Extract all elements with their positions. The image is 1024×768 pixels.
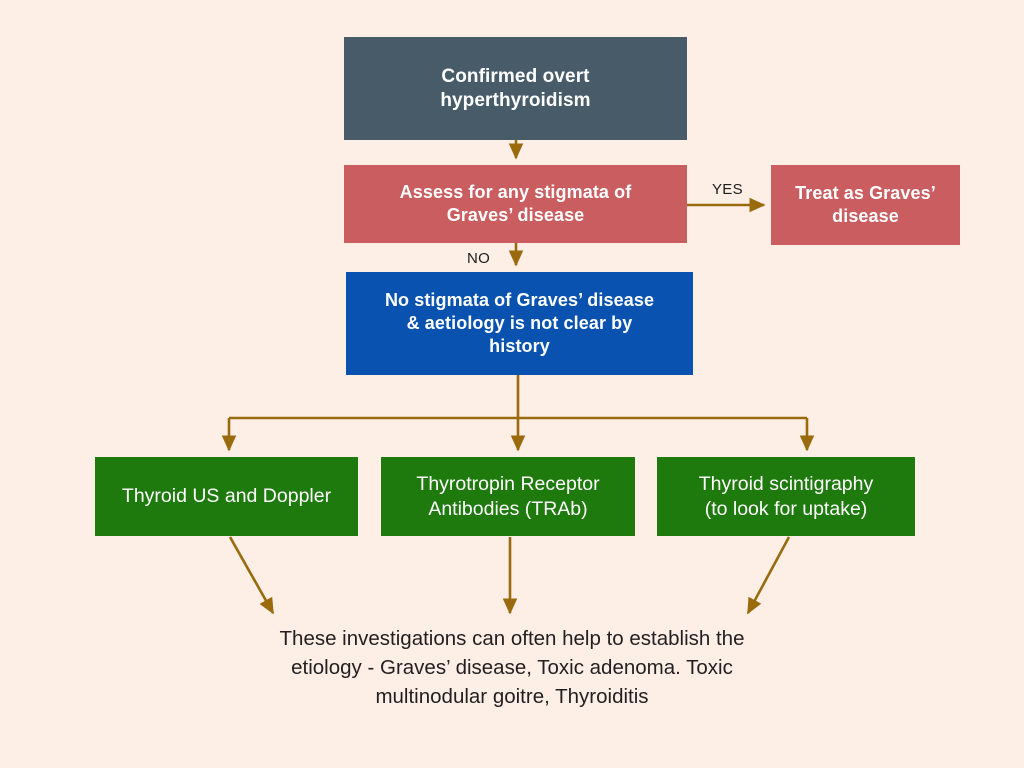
node-treat-as-graves-disease: Treat as Graves’ disease: [771, 165, 960, 245]
node-trab-label: Thyrotropin Receptor Antibodies (TRAb): [381, 472, 635, 521]
node-confirmed-overt-hyperthyroidism: Confirmed overt hyperthyroidism: [344, 37, 687, 140]
node-assess-label: Assess for any stigmata of Graves’ disea…: [344, 181, 687, 226]
node-nostigmata-label: No stigmata of Graves’ disease & aetiolo…: [346, 289, 693, 357]
node-thyrotropin-receptor-antibodies: Thyrotropin Receptor Antibodies (TRAb): [381, 457, 635, 536]
edge-label-yes: YES: [712, 181, 743, 198]
node-scintigraphy-label: Thyroid scintigraphy (to look for uptake…: [657, 472, 915, 521]
node-start-label: Confirmed overt hyperthyroidism: [344, 65, 687, 113]
flowchart-canvas: Confirmed overt hyperthyroidism Assess f…: [0, 0, 1024, 768]
node-thyroid-us-and-doppler: Thyroid US and Doppler: [95, 457, 358, 536]
node-thyroid-scintigraphy: Thyroid scintigraphy (to look for uptake…: [657, 457, 915, 536]
edge-label-no: NO: [467, 250, 490, 267]
edge-us-to-footnote: [230, 537, 273, 613]
node-graves-label: Treat as Graves’ disease: [771, 182, 960, 227]
node-assess-for-stigmata: Assess for any stigmata of Graves’ disea…: [344, 165, 687, 243]
node-us-label: Thyroid US and Doppler: [95, 484, 358, 509]
footnote-text: These investigations can often help to e…: [212, 624, 812, 711]
edge-scintigraphy-to-footnote: [748, 537, 789, 613]
node-no-stigmata-unclear-aetiology: No stigmata of Graves’ disease & aetiolo…: [346, 272, 693, 375]
